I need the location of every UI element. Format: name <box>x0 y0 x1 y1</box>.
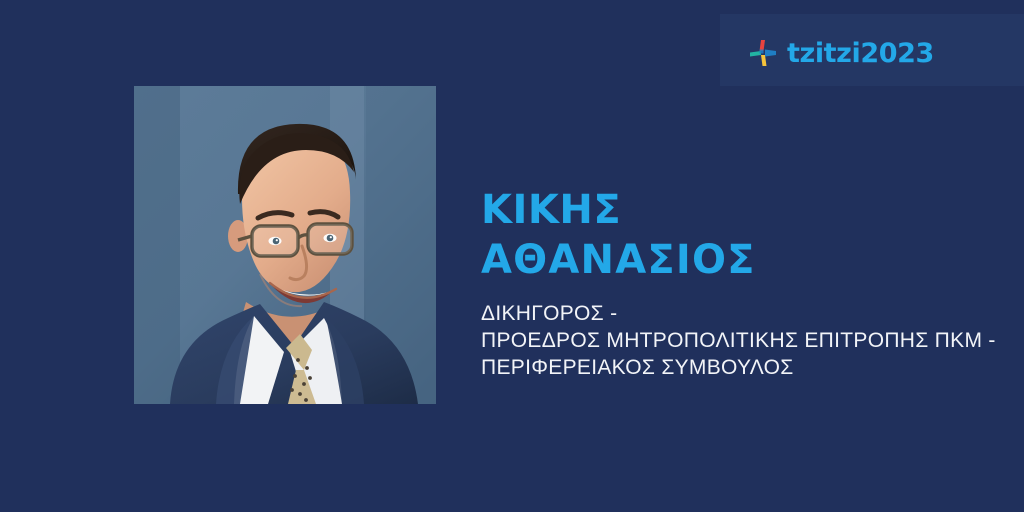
logo-text: tzitzi2023 <box>787 40 934 67</box>
candidate-last-name: ΑΘΑΝΑΣΙΟΣ <box>481 235 1001 285</box>
role-line-2: ΠΡΟΕΔΡΟΣ ΜΗΤΡΟΠΟΛΙΤΙΚΗΣ ΕΠΙΤΡΟΠΗΣ ΠΚΜ - <box>481 327 1001 354</box>
site-logo[interactable]: tzitzi2023 <box>748 36 934 70</box>
role-line-1: ΔΙΚΗΓΟΡΟΣ - <box>481 300 1001 327</box>
candidate-role-block: ΔΙΚΗΓΟΡΟΣ - ΠΡΟΕΔΡΟΣ ΜΗΤΡΟΠΟΛΙΤΙΚΗΣ ΕΠΙΤ… <box>481 300 1001 381</box>
role-line-3: ΠΕΡΙΦΕΡΕΙΑΚΟΣ ΣΥΜΒΟΥΛΟΣ <box>481 354 1001 381</box>
candidate-text-block: ΚΙΚΗΣ ΑΘΑΝΑΣΙΟΣ ΔΙΚΗΓΟΡΟΣ - ΠΡΟΕΔΡΟΣ ΜΗΤ… <box>481 185 1001 381</box>
candidate-first-name: ΚΙΚΗΣ <box>481 185 1001 235</box>
candidate-card: tzitzi2023 <box>0 0 1024 512</box>
portrait-image <box>134 86 436 404</box>
candidate-portrait <box>134 86 436 404</box>
tzitzi-pinwheel-icon <box>748 38 778 68</box>
